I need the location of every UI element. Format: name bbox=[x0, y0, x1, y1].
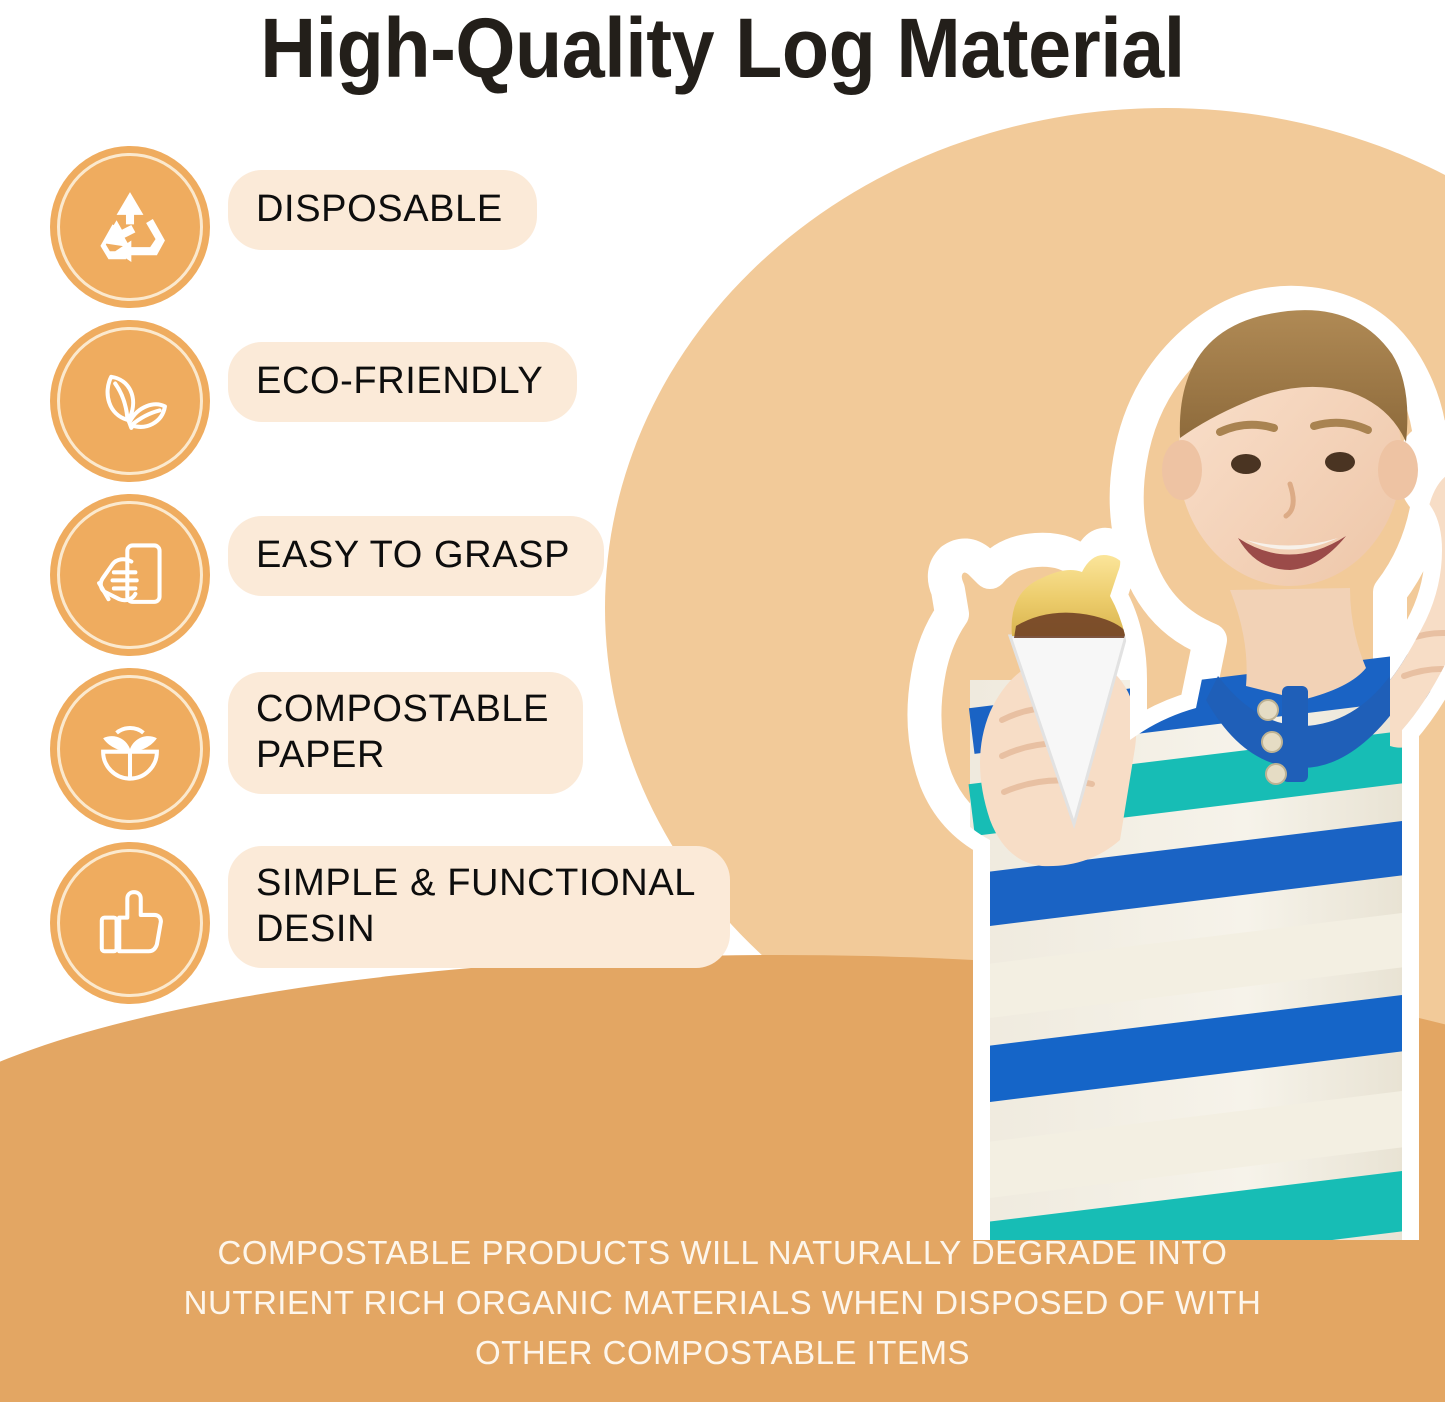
feature-label-pill: ECO-FRIENDLY bbox=[228, 342, 577, 422]
feature-label-line: COMPOSTABLE bbox=[256, 686, 549, 732]
feature-label-line: ECO-FRIENDLY bbox=[256, 358, 543, 404]
product-infographic: High-Quality Log Material bbox=[0, 0, 1445, 1402]
feature-item-compostable-paper: COMPOSTABLE PAPER bbox=[0, 662, 700, 836]
feature-label-line: DESIN bbox=[256, 906, 696, 952]
thumbs-up-icon bbox=[50, 842, 210, 1004]
caption-line: OTHER COMPOSTABLE ITEMS bbox=[0, 1328, 1445, 1378]
bottom-caption: COMPOSTABLE PRODUCTS WILL NATURALLY DEGR… bbox=[0, 1228, 1445, 1378]
feature-label-pill: COMPOSTABLE PAPER bbox=[228, 672, 583, 794]
sprout-icon bbox=[50, 668, 210, 830]
feature-label-pill: DISPOSABLE bbox=[228, 170, 537, 250]
caption-line: COMPOSTABLE PRODUCTS WILL NATURALLY DEGR… bbox=[0, 1228, 1445, 1278]
feature-label-line: PAPER bbox=[256, 732, 549, 778]
feature-label-line: SIMPLE & FUNCTIONAL bbox=[256, 860, 696, 906]
feature-item-easy-to-grasp: EASY TO GRASP bbox=[0, 488, 700, 662]
product-photo-boy-with-cone-cup bbox=[690, 120, 1445, 1240]
caption-line: NUTRIENT RICH ORGANIC MATERIALS WHEN DIS… bbox=[0, 1278, 1445, 1328]
feature-item-disposable: DISPOSABLE bbox=[0, 140, 700, 314]
page-title: High-Quality Log Material bbox=[58, 2, 1387, 94]
feature-item-simple-functional-design: SIMPLE & FUNCTIONAL DESIN bbox=[0, 836, 700, 1010]
two-leaves-icon bbox=[50, 320, 210, 482]
recycle-icon bbox=[50, 146, 210, 308]
feature-list: DISPOSABLE ECO-FRIENDLY bbox=[0, 140, 700, 1010]
feature-label-line: DISPOSABLE bbox=[256, 186, 503, 232]
hand-holding-cup-icon bbox=[50, 494, 210, 656]
feature-label-pill: SIMPLE & FUNCTIONAL DESIN bbox=[228, 846, 730, 968]
feature-label-pill: EASY TO GRASP bbox=[228, 516, 604, 596]
feature-item-eco-friendly: ECO-FRIENDLY bbox=[0, 314, 700, 488]
feature-label-line: EASY TO GRASP bbox=[256, 532, 570, 578]
